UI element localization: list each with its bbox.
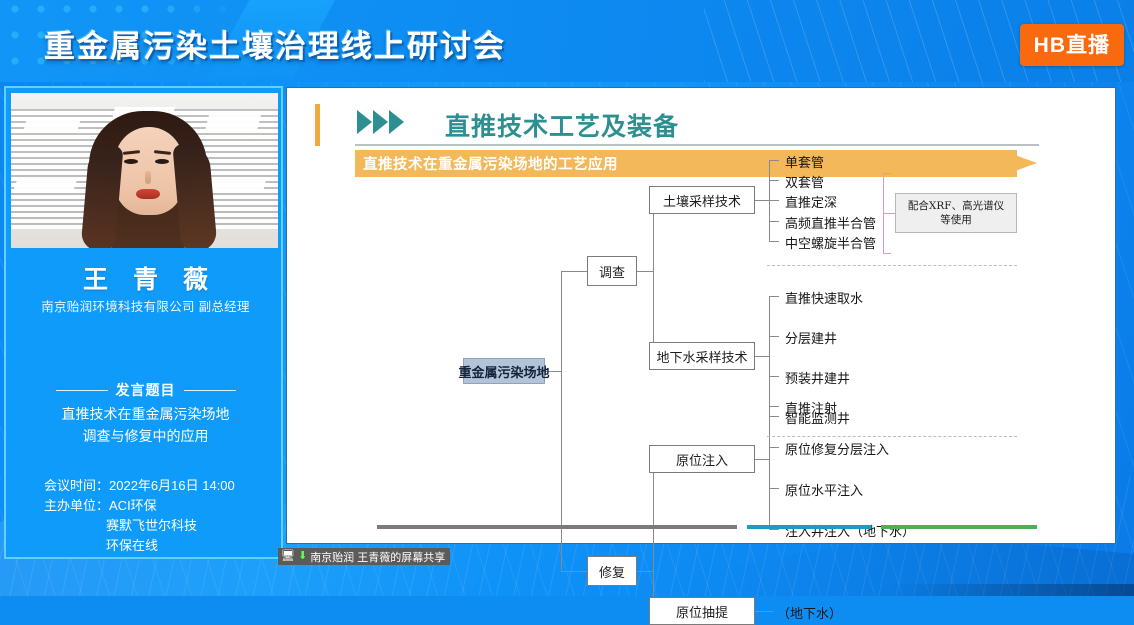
organizer-label: 主办单位： (44, 498, 109, 513)
ceiling-light (205, 115, 261, 131)
connector (637, 271, 653, 272)
connector (769, 529, 779, 530)
screen-share-label: 南京贻润 王青薇的屏幕共享 (310, 549, 445, 565)
diagram-branch-investigation[interactable]: 调查 (587, 256, 637, 286)
monitor-icon: 🖥 (281, 551, 295, 562)
ceiling-light (13, 179, 78, 193)
leaf-item: 预装井建井 (785, 368, 850, 387)
slide-accent-bar (315, 104, 320, 146)
speaker-affiliation: 南京贻润环境科技有限公司 副总经理 (6, 296, 285, 315)
connector (755, 459, 769, 460)
speaker-nose (145, 171, 151, 184)
leaf-item: 原位水平注入 (785, 480, 863, 499)
organizer-row-2: 赛默飞世尔科技 (44, 516, 235, 536)
speaker-eye-left (124, 159, 138, 164)
connector (769, 160, 779, 161)
divider-left (56, 390, 108, 391)
chevron-icon (357, 110, 404, 134)
leaf-item: 单套管 (785, 152, 824, 171)
topic-line-2: 调查与修复中的应用 (6, 426, 285, 446)
ceiling-light (205, 177, 266, 191)
connector (637, 571, 653, 572)
connector (769, 241, 779, 242)
connector (769, 406, 770, 529)
note-line-1: 配合XRF、高光谱仪 (908, 199, 1004, 213)
note-bracket (883, 253, 891, 254)
meeting-time-label: 会议时间： (44, 478, 109, 493)
section-divider (767, 265, 1017, 266)
connector (769, 488, 779, 489)
topic-line-1: 直推技术在重金属污染场地 (6, 404, 285, 424)
connector (755, 200, 769, 201)
organizer-row-3: 环保在线 (44, 536, 235, 556)
organizer-3: 环保在线 (106, 538, 158, 553)
connector (769, 221, 779, 222)
leaf-item: 直推快速取水 (785, 288, 863, 307)
note-line-2: 等使用 (940, 213, 972, 227)
diagram-group-insitu-injection[interactable]: 原位注入 (649, 445, 755, 473)
speaker-lips (136, 189, 160, 199)
leaf-item: 双套管 (785, 172, 824, 191)
leaf-item: 分层建井 (785, 328, 837, 347)
note-bracket (883, 173, 891, 174)
connector (769, 200, 779, 201)
footer-bar-gray (377, 525, 737, 529)
slide-banner: 直推技术在重金属污染场地的工艺应用 (355, 150, 1017, 177)
shared-slide[interactable]: 直推技术工艺及装备 直推技术在重金属污染场地的工艺应用 重金属污染 (287, 88, 1115, 543)
speaker-eye-right (155, 159, 169, 164)
leaf-item: 中空螺旋半合管 (785, 233, 876, 252)
connector (561, 571, 587, 572)
meeting-info: 会议时间：2022年6月16日 14:00 主办单位：ACI环保 赛默飞世尔科技… (44, 476, 235, 556)
diagram-group-soil-sampling[interactable]: 土壤采样技术 (649, 186, 755, 214)
connector (755, 611, 773, 612)
speaker-video-feed[interactable] (11, 93, 278, 248)
meeting-time-value: 2022年6月16日 14:00 (109, 478, 235, 493)
topic-heading: 发言题目 (6, 380, 285, 400)
organizer-1: ACI环保 (109, 498, 157, 513)
section-divider (767, 436, 1017, 437)
connector (769, 447, 779, 448)
connector (769, 296, 770, 416)
connector (561, 271, 587, 272)
meeting-time-row: 会议时间：2022年6月16日 14:00 (44, 476, 235, 496)
footer-bar-blue (747, 525, 871, 529)
footer-bar-green (881, 525, 1037, 529)
connector (769, 336, 779, 337)
download-icon: ⬇ (298, 551, 307, 562)
divider-right (184, 390, 236, 391)
speaker-name: 王 青 薇 (6, 260, 285, 296)
diagram-group-groundwater-sampling[interactable]: 地下水采样技术 (649, 342, 755, 370)
screen-share-indicator: 🖥 ⬇ 南京贻润 王青薇的屏幕共享 (278, 548, 450, 565)
leaf-item: 注入井注入（地下水） (785, 521, 915, 540)
connector (653, 459, 654, 611)
connector (769, 180, 779, 181)
leaf-item: （地下水） (777, 603, 842, 622)
page-header: 重金属污染土壤治理线上研讨会 HB直播 (0, 0, 1134, 82)
connector (769, 406, 779, 407)
organizer-2: 赛默飞世尔科技 (106, 518, 197, 533)
topic-heading-label: 发言题目 (116, 380, 176, 400)
leaf-item: 高频直推半合管 (785, 213, 876, 232)
diagram-group-insitu-extraction[interactable]: 原位抽提 (649, 597, 755, 625)
organizer-row-1: 主办单位：ACI环保 (44, 496, 235, 516)
diagram-note-box: 配合XRF、高光谱仪 等使用 (895, 193, 1017, 233)
connector (769, 296, 779, 297)
slide-title-underline (355, 144, 1039, 146)
leaf-item: 原位修复分层注入 (785, 439, 889, 458)
background-bottom-shade (884, 584, 1134, 596)
ceiling-light (23, 117, 82, 133)
connector (769, 416, 779, 417)
diagram-branch-remediation[interactable]: 修复 (587, 556, 637, 586)
connector (755, 356, 769, 357)
connector (769, 376, 779, 377)
connector (653, 200, 654, 356)
diagram-root-node[interactable]: 重金属污染场地 (463, 358, 545, 384)
leaf-item: 直推注射 (785, 398, 837, 417)
page-title: 重金属污染土壤治理线上研讨会 (44, 21, 506, 66)
leaf-item: 直推定深 (785, 192, 837, 211)
live-stream-badge: HB直播 (1020, 24, 1124, 66)
speaker-panel: 王 青 薇 南京贻润环境科技有限公司 副总经理 发言题目 直推技术在重金属污染场… (4, 86, 283, 559)
slide-title: 直推技术工艺及装备 (445, 107, 679, 143)
note-bracket (883, 213, 895, 214)
